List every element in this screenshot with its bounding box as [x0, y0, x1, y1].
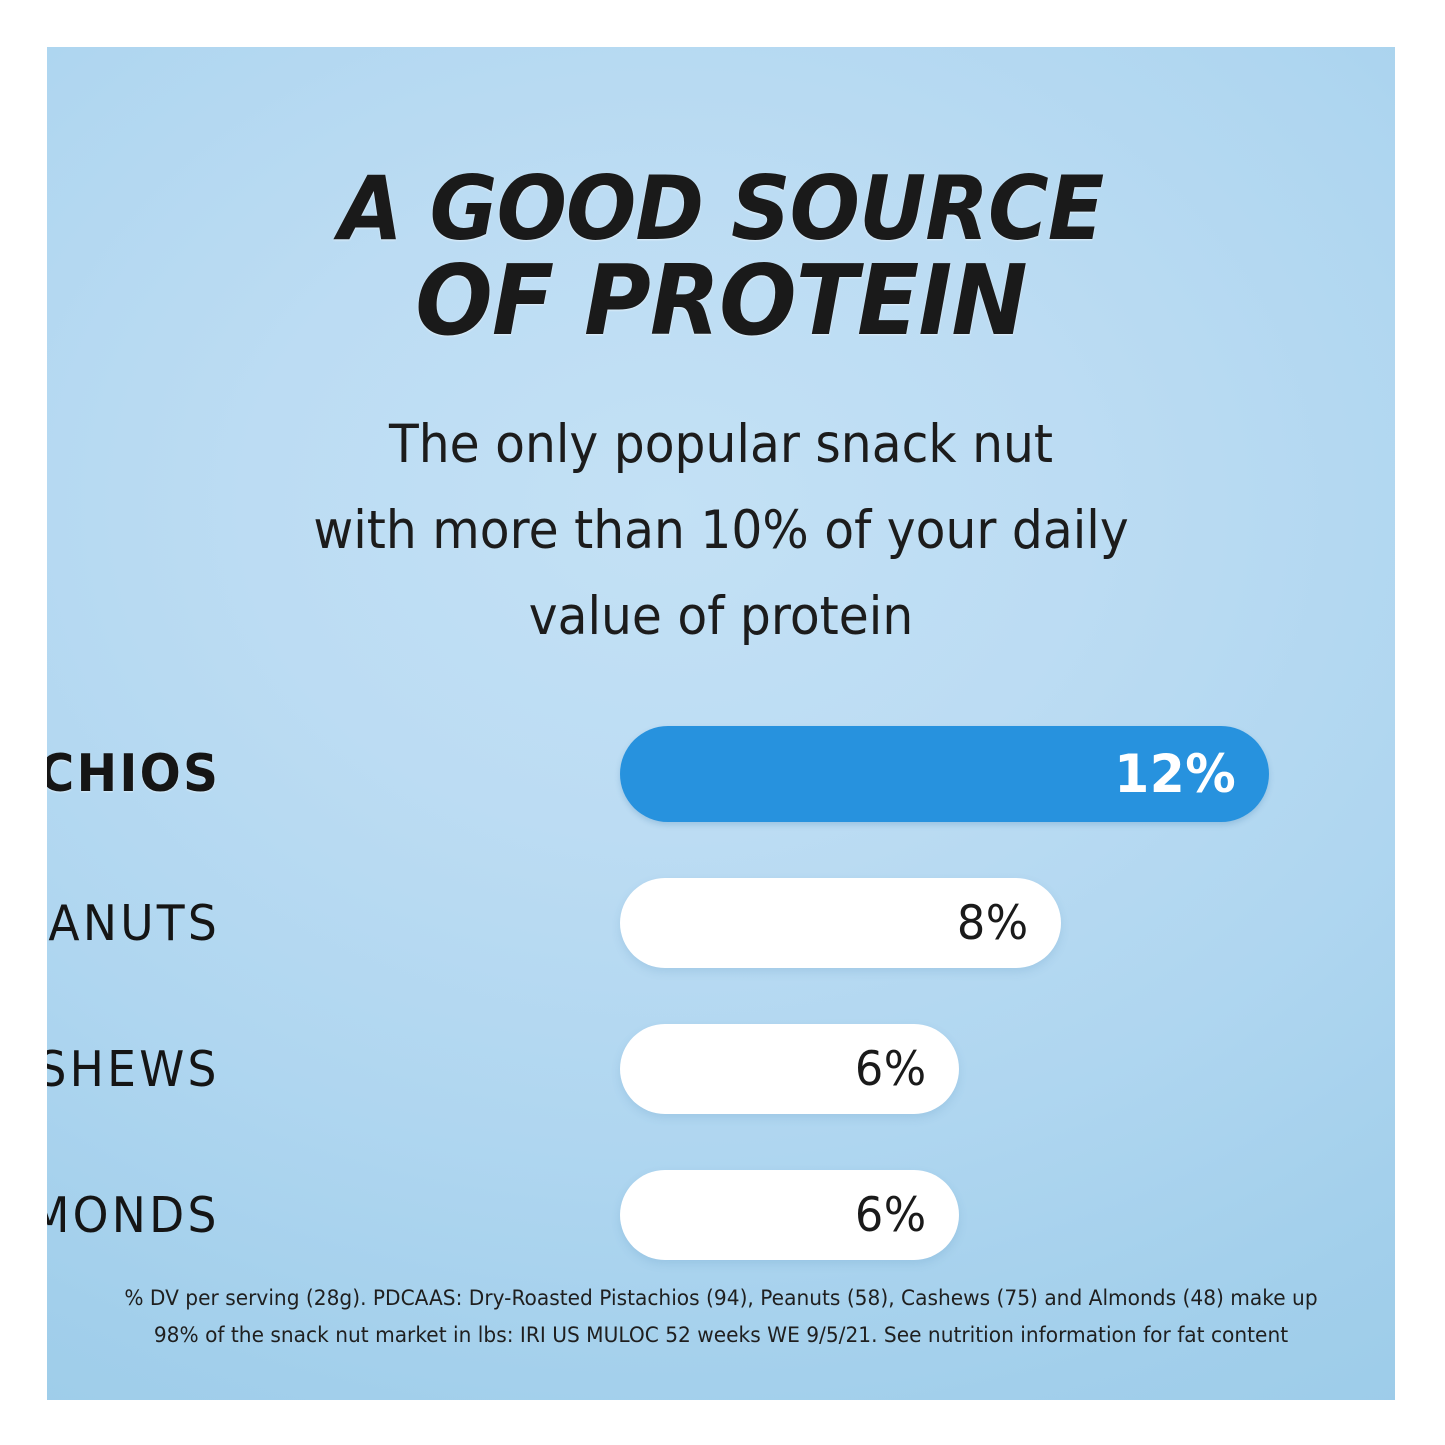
- footnote-line-1: % DV per serving (28g). PDCAAS: Dry-Roas…: [74, 1280, 1368, 1317]
- bar-value-almonds: 6%: [855, 1188, 927, 1243]
- subtitle-line-2: with more than 10% of your daily: [101, 488, 1341, 574]
- infographic-root: A GOOD SOURCE OF PROTEIN The only popula…: [0, 0, 1445, 1445]
- bar-label-cashews: CASHEWS: [47, 1041, 220, 1098]
- bar-track-peanuts: 8%: [620, 878, 1061, 968]
- protein-bar-chart: PISTACHIOS12%PEANUTS8%CASHEWS6%ALMONDS6%: [47, 680, 1395, 1260]
- page-title: A GOOD SOURCE OF PROTEIN: [47, 167, 1395, 347]
- infographic-panel: A GOOD SOURCE OF PROTEIN The only popula…: [47, 47, 1395, 1400]
- subtitle-line-1: The only popular snack nut: [101, 402, 1341, 488]
- subtitle-line-3: value of protein: [101, 574, 1341, 660]
- bar-value-peanuts: 8%: [957, 896, 1029, 951]
- bar-track-almonds: 6%: [620, 1170, 959, 1260]
- bar-label-peanuts: PEANUTS: [47, 895, 220, 952]
- footnote: % DV per serving (28g). PDCAAS: Dry-Roas…: [47, 1280, 1395, 1354]
- bar-label-almonds: ALMONDS: [47, 1187, 220, 1244]
- headline-line-2: OF PROTEIN: [87, 255, 1354, 347]
- headline-line-1: A GOOD SOURCE: [87, 167, 1354, 251]
- bar-value-cashews: 6%: [855, 1042, 927, 1097]
- bar-label-pistachios: PISTACHIOS: [47, 744, 220, 804]
- subtitle: The only popular snack nut with more tha…: [47, 402, 1395, 660]
- bar-row: PISTACHIOS12%: [47, 726, 1395, 822]
- bar-row: PEANUTS8%: [47, 878, 1395, 968]
- bar-row: ALMONDS6%: [47, 1170, 1395, 1260]
- footnote-line-2: 98% of the snack nut market in lbs: IRI …: [74, 1317, 1368, 1354]
- bar-track-cashews: 6%: [620, 1024, 959, 1114]
- bar-track-pistachios: 12%: [620, 726, 1269, 822]
- bar-row: CASHEWS6%: [47, 1024, 1395, 1114]
- bar-value-pistachios: 12%: [1114, 744, 1236, 805]
